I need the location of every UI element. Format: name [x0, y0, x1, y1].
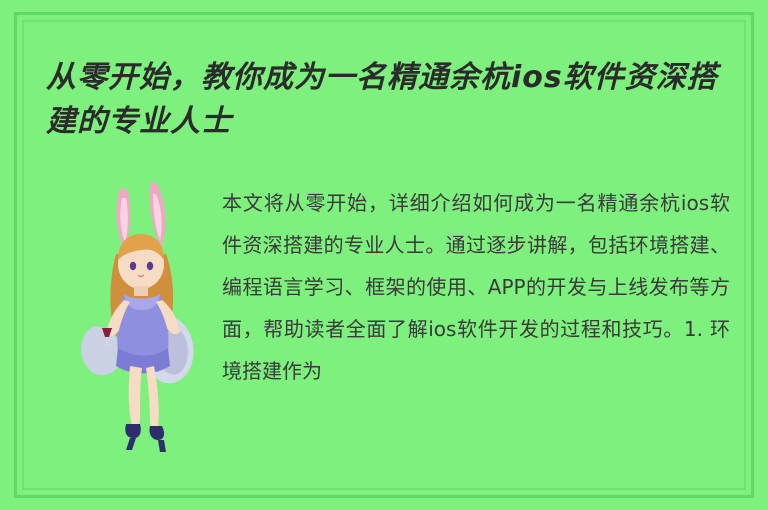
article-card: 从零开始，教你成为一名精通余杭ios软件资深搭建的专业人士 — [0, 0, 768, 510]
page-title: 从零开始，教你成为一名精通余杭ios软件资深搭建的专业人士 — [46, 56, 726, 144]
bunny-girl-character-illustration — [74, 176, 214, 466]
article-body: 本文将从零开始，详细介绍如何成为一名精通余杭ios软件资深搭建的专业人士。通过逐… — [222, 182, 730, 392]
